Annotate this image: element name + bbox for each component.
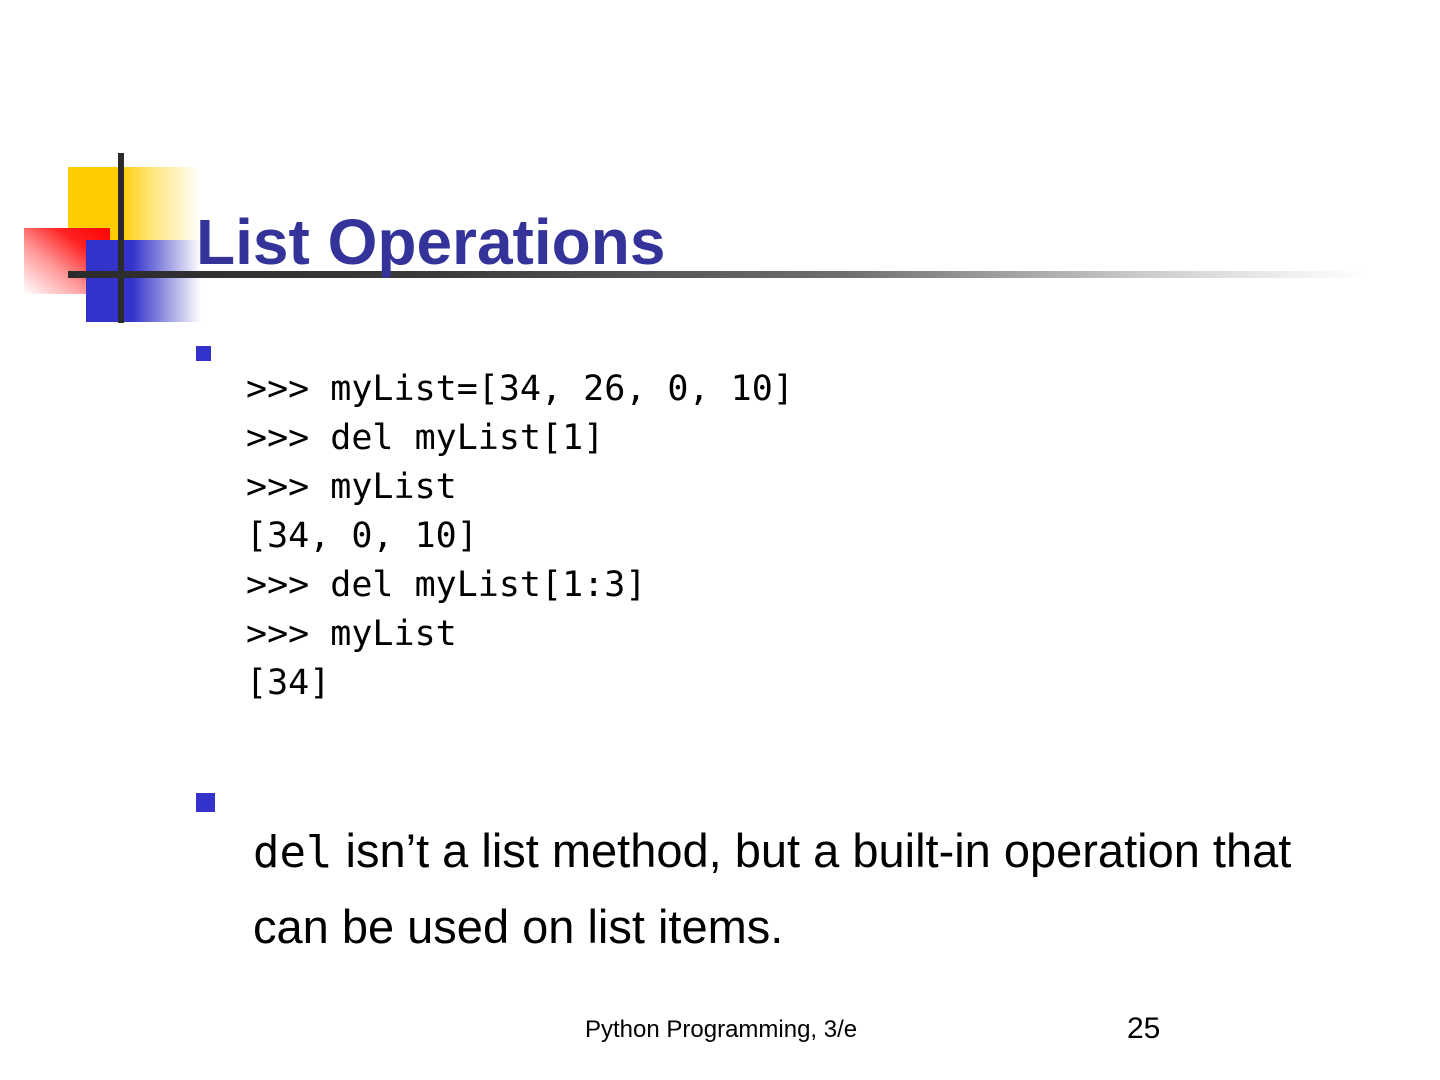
inline-code-del: del bbox=[253, 827, 332, 878]
list-item: del isn’t a list method, but a built-in … bbox=[196, 767, 1376, 1011]
body-paragraph: del isn’t a list method, but a built-in … bbox=[253, 814, 1376, 964]
vertical-rule-icon bbox=[118, 153, 124, 323]
slide-content: >>> myList=[34, 26, 0, 10] >>> del myLis… bbox=[196, 330, 1376, 1011]
square-bullet-icon bbox=[196, 346, 211, 361]
body-paragraph-text: isn’t a list method, but a built-in oper… bbox=[253, 824, 1291, 953]
slide-logo-decoration bbox=[0, 0, 440, 340]
footer-label: Python Programming, 3/e bbox=[585, 1016, 857, 1044]
yellow-square-icon bbox=[68, 167, 201, 263]
red-square-icon bbox=[24, 228, 110, 294]
blue-square-icon bbox=[86, 240, 201, 322]
page-title: List Operations bbox=[196, 209, 665, 276]
code-sample: >>> myList=[34, 26, 0, 10] >>> del myLis… bbox=[246, 365, 794, 708]
list-item: >>> myList=[34, 26, 0, 10] >>> del myLis… bbox=[196, 330, 1376, 743]
square-bullet-icon bbox=[196, 793, 215, 812]
page-number: 25 bbox=[1127, 1012, 1160, 1046]
